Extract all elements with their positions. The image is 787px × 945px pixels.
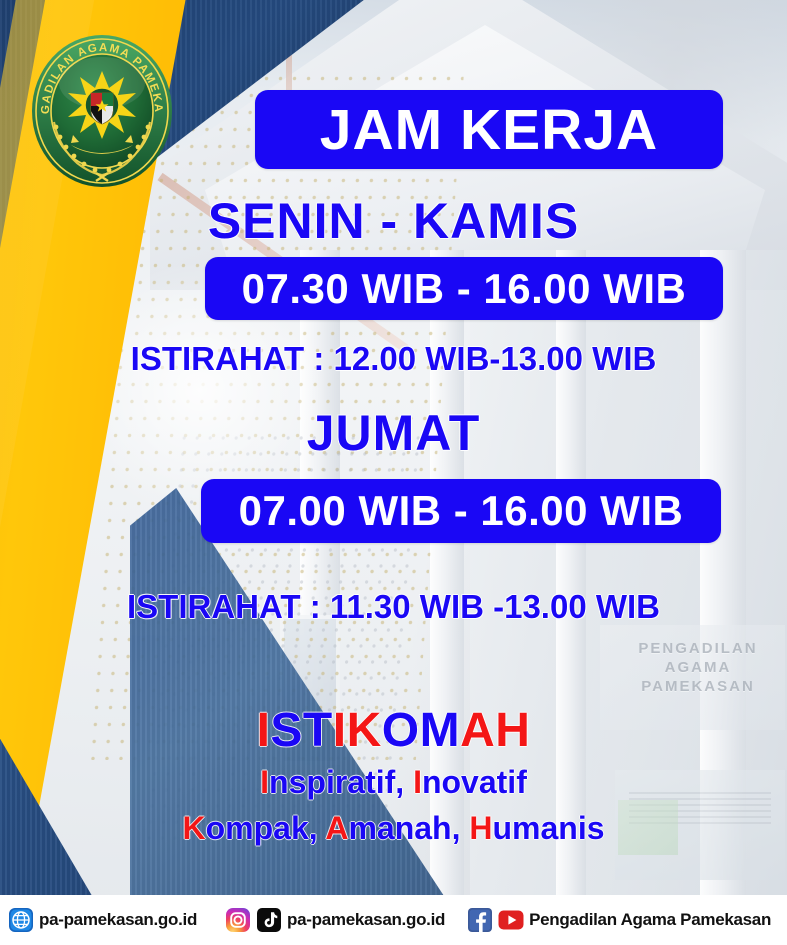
slogan-letter: I	[257, 704, 271, 757]
work-hours-poster: PENGADILAN AGAMA PAMEKASAN	[0, 0, 787, 945]
slogan-segment: K	[182, 810, 205, 846]
slogan-segment: I	[413, 764, 422, 800]
slogan-letter: H	[495, 704, 530, 757]
weekday-label-friday: JUMAT	[0, 404, 787, 462]
slogan-line-3: Kompak, Amanah, Humanis	[0, 810, 787, 847]
slogan-letter: I	[333, 704, 347, 757]
break-label-friday: ISTIRAHAT : 11.30 WIB -13.00 WIB	[0, 588, 787, 626]
slogan-segment: ompak,	[206, 810, 326, 846]
slogan-acronym: ISTIKOMAH	[0, 703, 787, 758]
footer-website-group[interactable]: pa-pamekasan.go.id	[8, 907, 197, 933]
slogan-letter: O	[382, 704, 420, 757]
facebook-icon[interactable]	[467, 907, 493, 933]
slogan-segment: H	[469, 810, 492, 846]
slogan-letter: T	[303, 704, 333, 757]
poster-content: JAM KERJA SENIN - KAMIS 07.30 WIB - 16.0…	[0, 0, 787, 945]
youtube-icon[interactable]	[498, 907, 524, 933]
footer-social-group[interactable]: pa-pamekasan.go.id	[225, 907, 445, 933]
tiktok-icon[interactable]	[256, 907, 282, 933]
break-label-monday-thursday: ISTIRAHAT : 12.00 WIB-13.00 WIB	[0, 340, 787, 378]
social-handle-text[interactable]: pa-pamekasan.go.id	[287, 910, 445, 930]
title-banner: JAM KERJA	[255, 90, 723, 169]
footer-page-group[interactable]: Pengadilan Agama Pamekasan	[467, 907, 771, 933]
slogan-letter: M	[420, 704, 460, 757]
slogan-segment: umanis	[492, 810, 604, 846]
hours-banner-friday: 07.00 WIB - 16.00 WIB	[201, 479, 721, 543]
website-text[interactable]: pa-pamekasan.go.id	[39, 910, 197, 930]
globe-icon[interactable]	[8, 907, 34, 933]
hours-banner-monday-thursday: 07.30 WIB - 16.00 WIB	[205, 257, 723, 320]
slogan-segment: novatif	[422, 764, 527, 800]
slogan-segment: A	[325, 810, 348, 846]
slogan-letter: S	[270, 704, 303, 757]
slogan-letter: K	[347, 704, 382, 757]
instagram-icon[interactable]	[225, 907, 251, 933]
slogan-segment: I	[260, 764, 269, 800]
contact-footer-bar: pa-pamekasan.go.id	[0, 895, 787, 945]
slogan-letter: A	[460, 704, 495, 757]
weekday-label-monday-thursday: SENIN - KAMIS	[0, 192, 787, 250]
slogan-segment: nspiratif,	[269, 764, 413, 800]
slogan-line-2: Inspiratif, Inovatif	[0, 764, 787, 801]
slogan-segment: manah,	[348, 810, 469, 846]
page-name-text[interactable]: Pengadilan Agama Pamekasan	[529, 910, 771, 930]
